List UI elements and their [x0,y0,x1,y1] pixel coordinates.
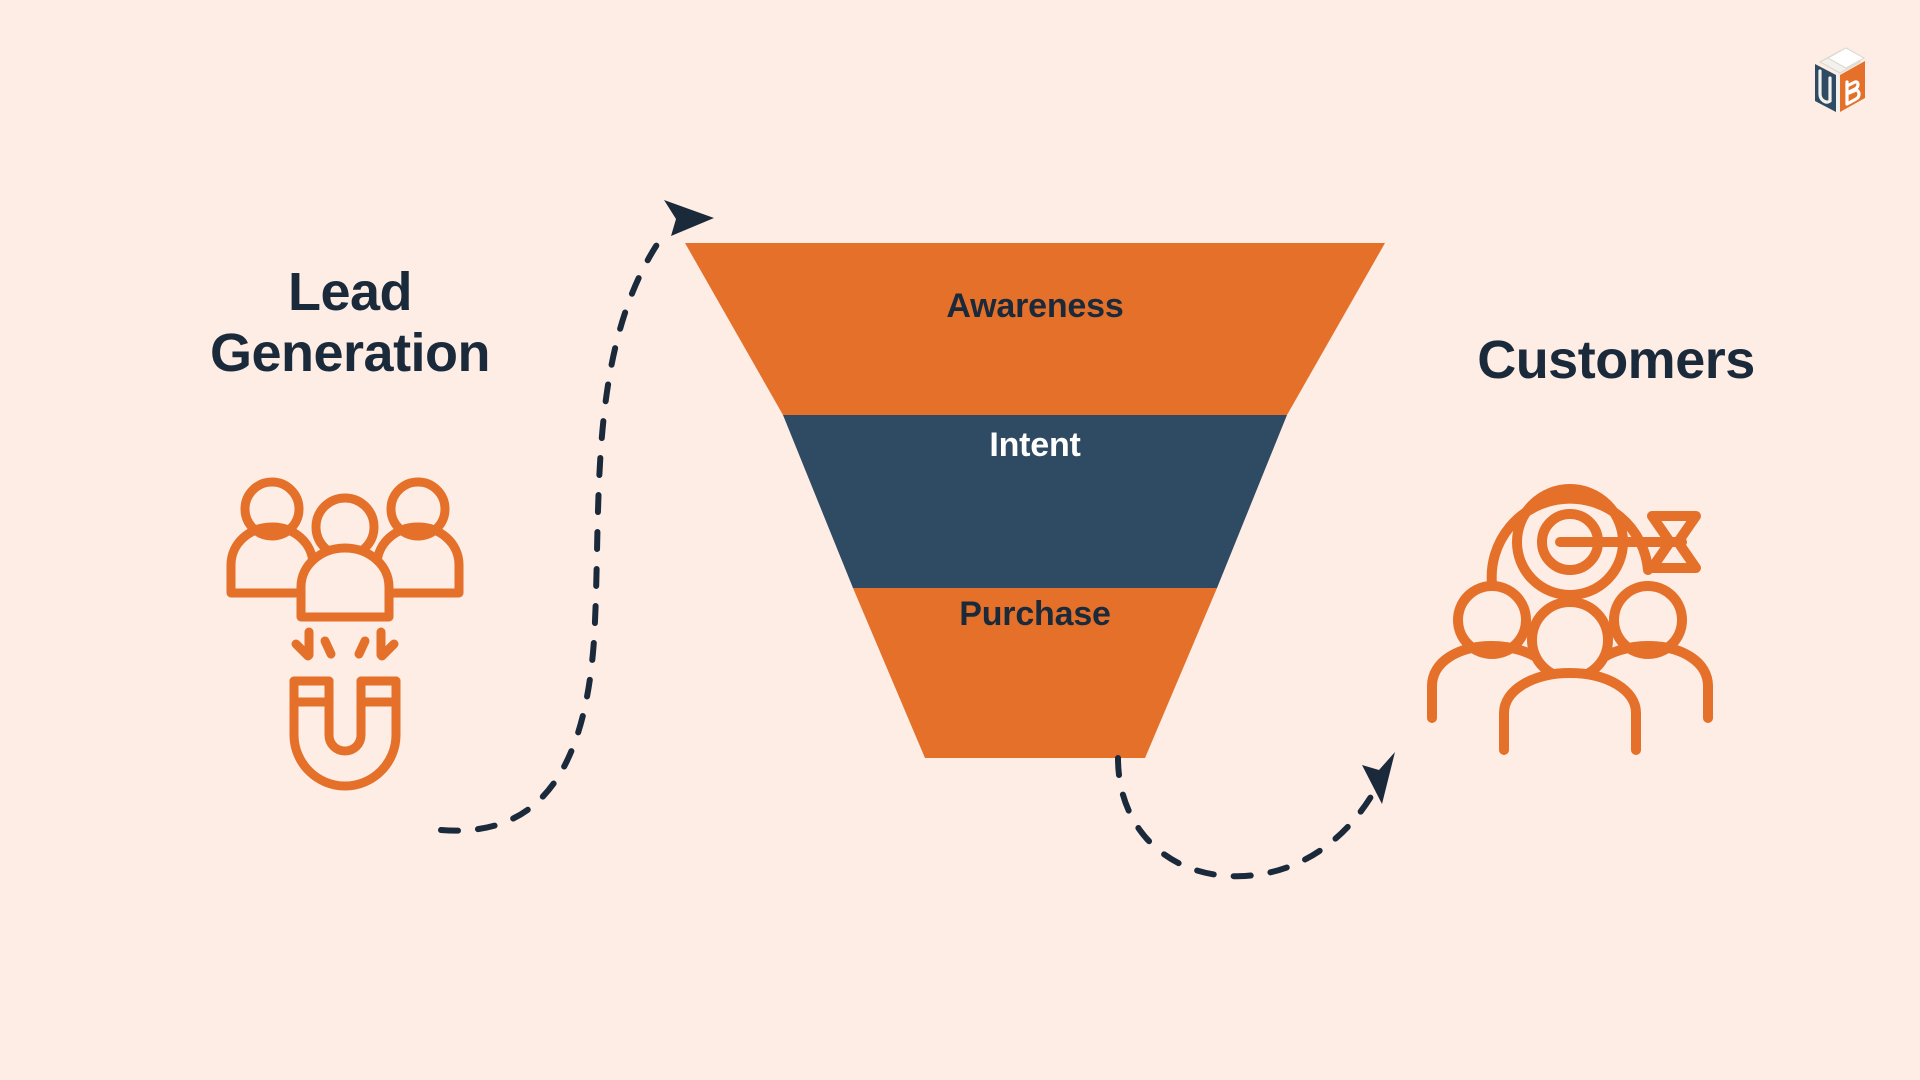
dashed-arrow-right-path [1118,758,1375,876]
ub-cube-logo[interactable] [1802,42,1878,120]
dashed-arrow-funnel-to-customers [1118,752,1395,876]
funnel-stage-awareness[interactable] [685,243,1385,415]
marketing-funnel: Awareness Intent Purchase [685,243,1385,758]
magnet-pole-left-icon [294,681,329,702]
funnel-stage-purchase[interactable] [853,588,1217,758]
person-center-body-icon [301,548,389,617]
customers-heading: Customers [1396,330,1836,391]
target-audience-icon-glyph [1420,460,1720,760]
people-magnet-icon-glyph [225,470,465,810]
dashed-arrow-left-head-icon [664,200,714,236]
dashed-arrow-right-head-icon [1362,752,1395,804]
magnet-inner-icon [329,681,361,751]
magnet-outer-icon [294,681,396,786]
customer-center-body-icon [1504,673,1636,750]
target-audience-icon [1420,460,1720,760]
infographic-canvas: Lead Generation [0,0,1920,1080]
spark-5-icon [359,641,365,654]
funnel-stage-intent[interactable] [783,415,1287,588]
customer-center-head-icon [1532,602,1608,678]
spark-2-icon [325,641,331,654]
lead-generation-heading: Lead Generation [110,262,590,384]
funnel-shape [685,243,1385,758]
lead-generation-heading-line1: Lead [110,262,590,323]
people-magnet-icon [225,470,465,810]
ub-cube-logo-icon [1802,42,1878,120]
magnet-pole-right-icon [361,681,396,702]
lead-generation-heading-line2: Generation [110,323,590,384]
